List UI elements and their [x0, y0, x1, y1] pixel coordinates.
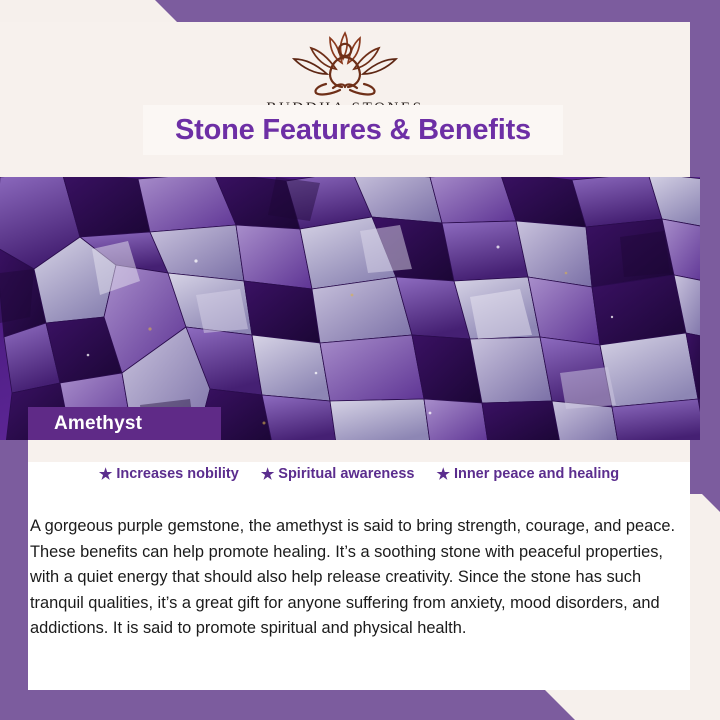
card-top-strip — [28, 440, 690, 462]
feature-list: ★ Increases nobility ★ Spiritual awarene… — [28, 466, 690, 482]
feature-item: ★ Inner peace and healing — [436, 466, 619, 482]
feature-item: ★ Spiritual awareness — [261, 466, 415, 482]
brand-logo: BUDDHA STONES — [0, 26, 690, 117]
frame-left-bar — [0, 430, 28, 720]
feature-item: ★ Increases nobility — [99, 466, 239, 482]
feature-label: Inner peace and healing — [454, 466, 619, 482]
infographic-page: BUDDHA STONES Stone Features & Benefits — [0, 0, 720, 720]
page-title-plate: Stone Features & Benefits — [143, 105, 563, 155]
frame-bottom-bar — [0, 690, 720, 720]
star-icon: ★ — [261, 467, 274, 482]
star-icon: ★ — [436, 467, 449, 482]
stone-description: A gorgeous purple gemstone, the amethyst… — [30, 514, 676, 642]
stone-name-banner: Amethyst — [28, 407, 221, 440]
amethyst-crystal-cluster-photo — [0, 177, 700, 440]
feature-label: Spiritual awareness — [278, 466, 414, 482]
page-title: Stone Features & Benefits — [175, 114, 531, 147]
stone-name: Amethyst — [28, 413, 142, 435]
lotus-meditation-icon — [270, 26, 420, 98]
hero-image — [0, 177, 700, 440]
content-card: ★ Increases nobility ★ Spiritual awarene… — [28, 440, 690, 690]
star-icon: ★ — [99, 467, 112, 482]
feature-label: Increases nobility — [116, 466, 239, 482]
